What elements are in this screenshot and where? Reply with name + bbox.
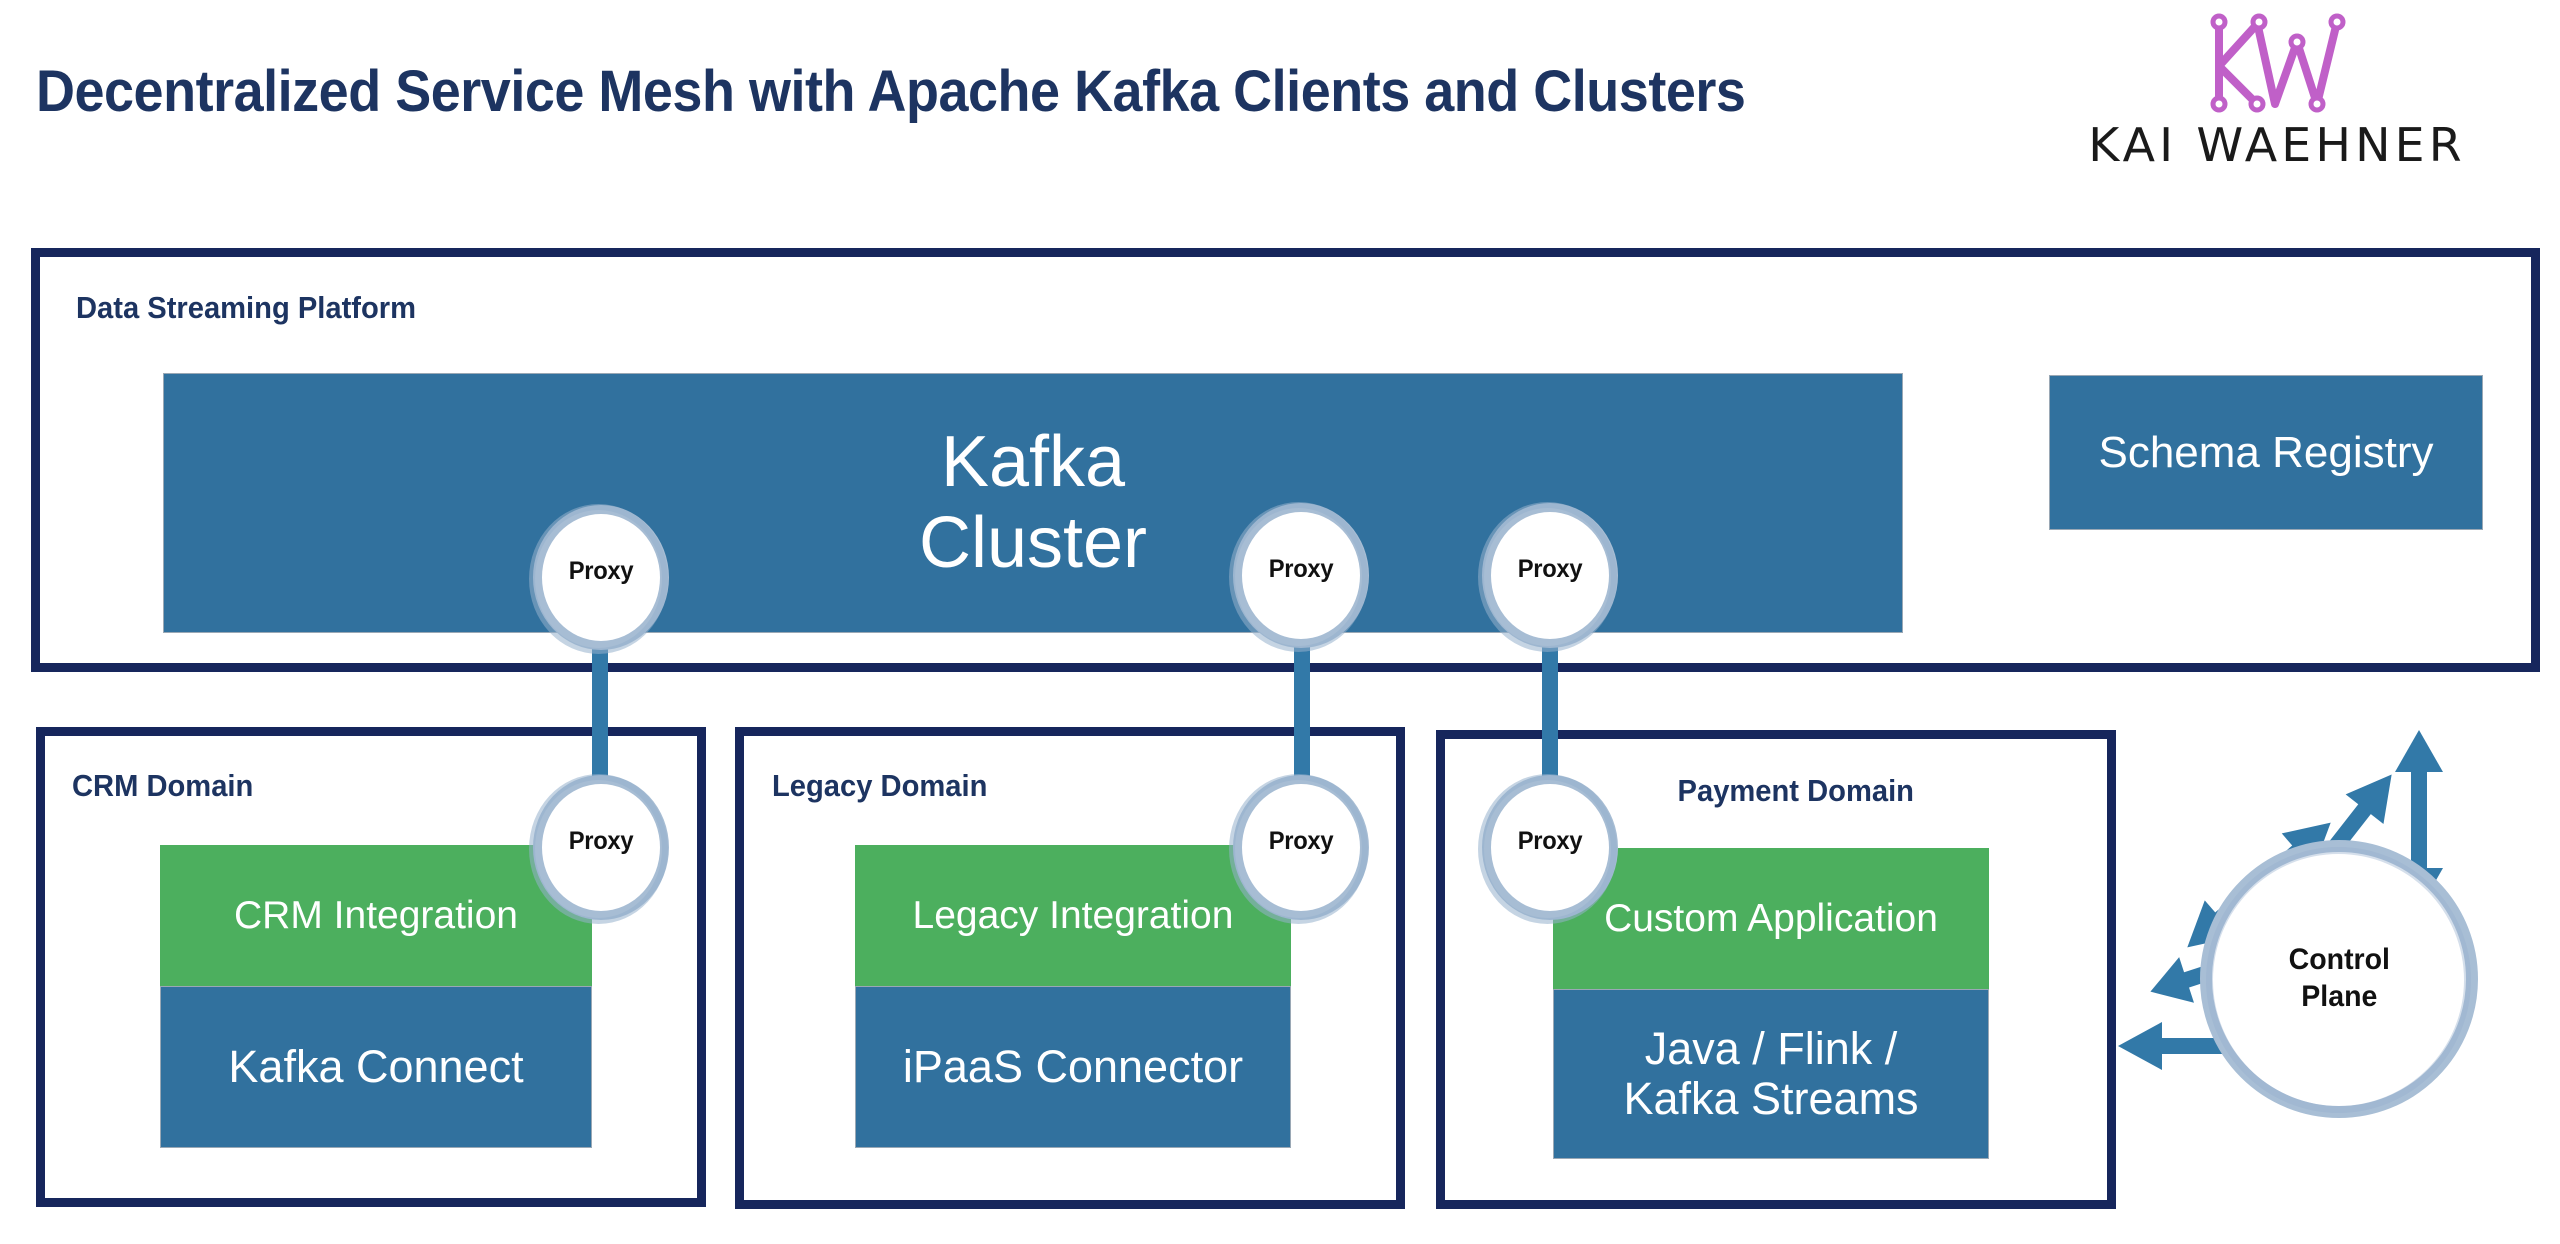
kafka-cluster-block: Kafka Cluster bbox=[163, 373, 1903, 633]
ipaas-connector-label: iPaaS Connector bbox=[903, 1042, 1243, 1092]
proxy-label: Proxy bbox=[569, 557, 634, 586]
java-flink-line1: Java / Flink / bbox=[1645, 1024, 1898, 1074]
proxy-bubble-crm-domain[interactable]: Proxy bbox=[533, 775, 669, 920]
kafka-cluster-line1: Kafka bbox=[941, 422, 1125, 503]
crm-domain-label: CRM Domain bbox=[72, 768, 253, 804]
legacy-domain-label: Legacy Domain bbox=[772, 768, 987, 804]
crm-integration-label: CRM Integration bbox=[234, 894, 518, 938]
proxy-bubble-cluster-payment[interactable]: Proxy bbox=[1482, 503, 1618, 648]
control-plane-line1: Control bbox=[2288, 942, 2389, 979]
custom-application-label: Custom Application bbox=[1604, 897, 1938, 941]
data-streaming-platform-label: Data Streaming Platform bbox=[76, 290, 416, 326]
diagram-canvas: Decentralized Service Mesh with Apache K… bbox=[0, 0, 2560, 1244]
control-plane-label: Control Plane bbox=[2288, 942, 2389, 1015]
legacy-integration-block: Legacy Integration bbox=[855, 845, 1291, 986]
kafka-cluster-line2: Cluster bbox=[919, 503, 1147, 584]
proxy-label: Proxy bbox=[1518, 827, 1583, 856]
ipaas-connector-block: iPaaS Connector bbox=[855, 986, 1291, 1148]
payment-domain-label: Payment Domain bbox=[1678, 773, 1914, 809]
legacy-integration-label: Legacy Integration bbox=[913, 894, 1234, 938]
proxy-label: Proxy bbox=[1269, 555, 1334, 584]
java-flink-kafka-streams-block: Java / Flink / Kafka Streams bbox=[1553, 989, 1989, 1159]
control-plane-line2: Plane bbox=[2288, 979, 2389, 1016]
page-title: Decentralized Service Mesh with Apache K… bbox=[36, 58, 1745, 125]
crm-integration-block: CRM Integration bbox=[160, 845, 592, 986]
java-flink-line2: Kafka Streams bbox=[1623, 1074, 1918, 1124]
control-plane-node[interactable]: Control Plane bbox=[2200, 840, 2478, 1118]
kw-monogram-icon bbox=[2197, 8, 2357, 116]
logo-wordmark: KAI WAEHNER bbox=[2035, 118, 2519, 172]
proxy-bubble-legacy-domain[interactable]: Proxy bbox=[1233, 775, 1369, 920]
kafka-connect-block: Kafka Connect bbox=[160, 986, 592, 1148]
proxy-label: Proxy bbox=[1518, 555, 1583, 584]
proxy-bubble-cluster-legacy[interactable]: Proxy bbox=[1233, 503, 1369, 648]
schema-registry-label: Schema Registry bbox=[2098, 428, 2433, 477]
kai-waehner-logo: KAI WAEHNER bbox=[2042, 6, 2512, 186]
proxy-bubble-cluster-crm[interactable]: Proxy bbox=[533, 505, 669, 650]
custom-application-block: Custom Application bbox=[1553, 848, 1989, 989]
proxy-label: Proxy bbox=[1269, 827, 1334, 856]
proxy-bubble-payment-domain[interactable]: Proxy bbox=[1482, 775, 1618, 920]
kafka-connect-label: Kafka Connect bbox=[228, 1042, 523, 1092]
proxy-label: Proxy bbox=[569, 827, 634, 856]
schema-registry-block: Schema Registry bbox=[2049, 375, 2483, 530]
